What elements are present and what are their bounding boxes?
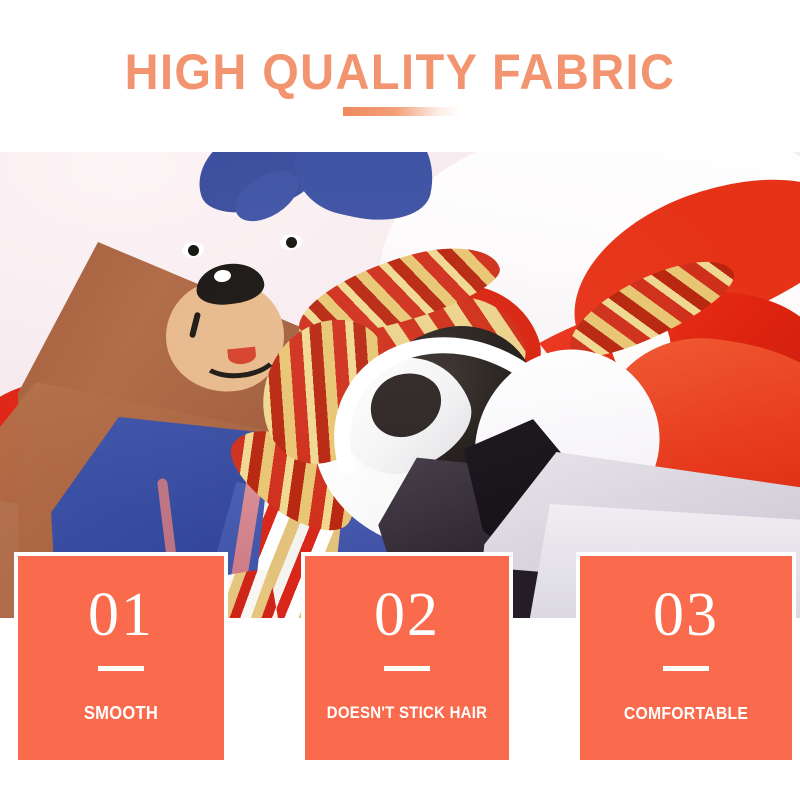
product-feature-banner: HIGH QUALITY FABRIC (0, 0, 800, 800)
feature-card-02[interactable]: 02 DOESN'T STICK HAIR (301, 552, 513, 764)
feature-divider-rule (663, 666, 709, 671)
feature-card-01-body: 01 SMOOTH (18, 556, 224, 760)
feature-card-03-body: 03 COMFORTABLE (580, 556, 792, 760)
feature-divider-rule (98, 666, 144, 671)
page-title: HIGH QUALITY FABRIC (24, 44, 776, 100)
feature-list: 01 SMOOTH 02 DOESN'T STICK HAIR 03 COMFO… (0, 552, 800, 772)
feature-number: 03 (580, 582, 792, 648)
bottom-spacer (0, 772, 800, 800)
feature-card-02-body: 02 DOESN'T STICK HAIR (305, 556, 509, 760)
feature-label: COMFORTABLE (591, 702, 782, 724)
banner-header: HIGH QUALITY FABRIC (0, 0, 800, 152)
feature-label: DOESN'T STICK HAIR (317, 702, 497, 724)
feature-card-03[interactable]: 03 COMFORTABLE (576, 552, 796, 764)
title-underline-rule (343, 107, 461, 116)
bear-pupil-right (286, 237, 297, 248)
feature-label: SMOOTH (26, 702, 216, 724)
bear-pupil-left (188, 245, 199, 256)
product-photo (0, 152, 800, 618)
feature-divider-rule (384, 666, 430, 671)
feature-number: 01 (18, 582, 224, 648)
feature-number: 02 (305, 582, 509, 648)
feature-card-01[interactable]: 01 SMOOTH (14, 552, 228, 764)
